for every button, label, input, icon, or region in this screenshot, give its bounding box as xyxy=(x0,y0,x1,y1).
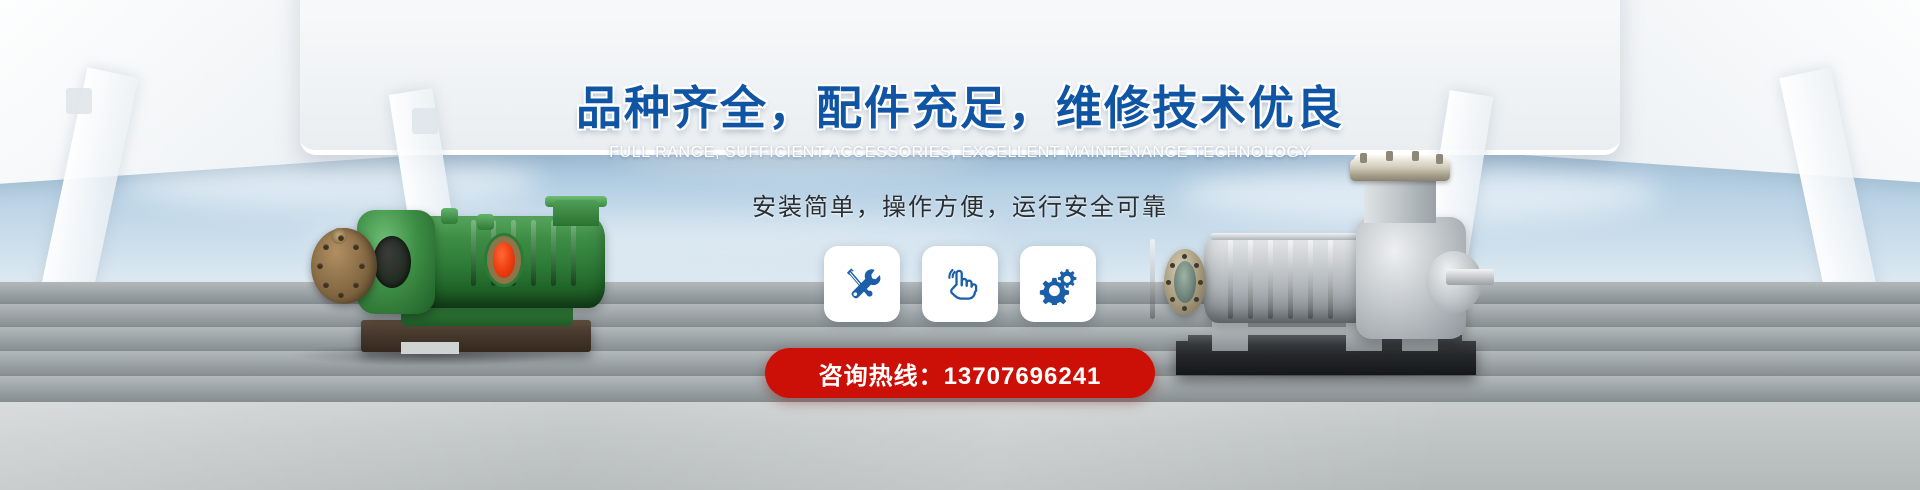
feature-icon-box-click-hand[interactable] xyxy=(922,246,998,322)
feature-icon-row xyxy=(0,246,1920,322)
banner-headline: 品种齐全，配件充足，维修技术优良 xyxy=(0,72,1920,138)
tools-icon xyxy=(841,263,883,305)
click-hand-icon xyxy=(939,263,981,305)
promo-banner: 品种齐全，配件充足，维修技术优良 FULL RANGE, SUFFICIENT … xyxy=(0,0,1920,490)
hotline-cta-button[interactable]: 咨询热线：13707696241 xyxy=(765,348,1155,398)
feature-icon-box-gears[interactable] xyxy=(1020,246,1096,322)
gears-icon xyxy=(1037,263,1079,305)
banner-subtitle-chinese: 安装简单，操作方便，运行安全可靠 xyxy=(0,187,1920,222)
banner-content: 品种齐全，配件充足，维修技术优良 FULL RANGE, SUFFICIENT … xyxy=(0,0,1920,490)
hotline-cta-label: 咨询热线：13707696241 xyxy=(785,356,1136,391)
banner-subtitle-english: FULL RANGE, SUFFICIENT ACCESSORIES, EXCE… xyxy=(0,144,1920,162)
feature-icon-box-tools[interactable] xyxy=(824,246,900,322)
